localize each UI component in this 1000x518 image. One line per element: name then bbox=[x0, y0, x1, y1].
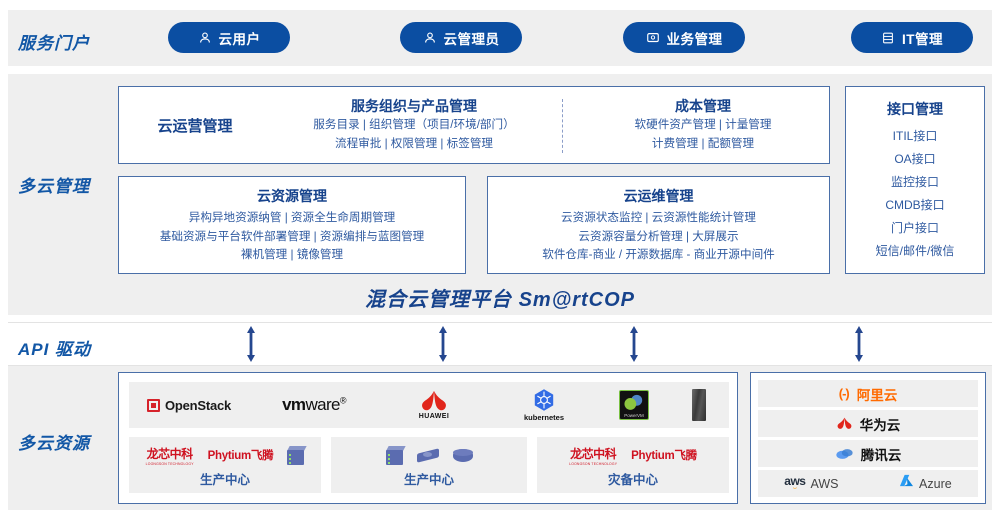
phytium-logo: Phytium飞腾 bbox=[208, 447, 274, 463]
cost-management-group: 成本管理 软硬件资产管理 | 计量管理 计费管理 | 配额管理 bbox=[589, 96, 817, 153]
cloud-ops-mgmt-line: 云资源状态监控 | 云资源性能统计管理 bbox=[488, 209, 829, 228]
database-icon bbox=[453, 449, 473, 462]
datacenter-tile-production-2: 生产中心 bbox=[331, 437, 527, 493]
cloud-operations-title: 云运营管理 bbox=[133, 87, 257, 163]
platform-title: 混合云管理平台 Sm@rtCOP bbox=[0, 283, 1000, 312]
portal-pill-label: IT管理 bbox=[902, 28, 943, 48]
public-cloud-row-huaweicloud[interactable]: 华为云 bbox=[758, 410, 978, 437]
phytium-logo: Phytium飞腾 bbox=[631, 447, 697, 463]
datacenter-label: 生产中心 bbox=[129, 469, 321, 488]
datacenter-tile-production-1: 龙芯中科 LOONGSON TECHNOLOGY Phytium飞腾 生产中心 bbox=[129, 437, 321, 493]
portal-pill-it-mgmt[interactable]: IT管理 bbox=[851, 22, 973, 53]
huaweicloud-logo bbox=[836, 417, 852, 430]
server-rack-icon bbox=[881, 31, 895, 45]
architecture-diagram: 服务门户 云用户 云管理员 业务管理 IT管理 多云管理 云运营管理 服务组织与… bbox=[0, 0, 1000, 518]
loongson-logo-en: LOONGSON TECHNOLOGY bbox=[569, 462, 617, 466]
huawei-logo: HUAWEI bbox=[379, 382, 489, 428]
dc2-icon-row bbox=[331, 442, 527, 468]
cloud-operations-box: 云运营管理 服务组织与产品管理 服务目录 | 组织管理（项目/环境/部门） 流程… bbox=[118, 86, 830, 164]
admin-user-icon bbox=[423, 31, 437, 45]
datacenter-tile-disaster-recovery: 龙芯中科 LOONGSON TECHNOLOGY Phytium飞腾 灾备中心 bbox=[537, 437, 729, 493]
multicloud-management-label: 多云管理 bbox=[18, 172, 90, 197]
service-org-product-title: 服务组织与产品管理 bbox=[269, 96, 559, 116]
cloud-resource-mgmt-line: 基础资源与平台软件部署管理 | 资源编排与蓝图管理 bbox=[119, 228, 465, 247]
business-window-icon bbox=[646, 31, 660, 45]
server-rack-logo bbox=[669, 382, 729, 428]
cloud-ops-mgmt-title: 云运维管理 bbox=[488, 186, 829, 206]
multicloud-resource-label: 多云资源 bbox=[18, 429, 90, 454]
bidirectional-arrow-icon bbox=[436, 324, 450, 364]
loongson-logo: 龙芯中科 LOONGSON TECHNOLOGY bbox=[569, 445, 617, 466]
bidirectional-arrow-icon bbox=[627, 324, 641, 364]
interface-item-monitor: 监控接口 bbox=[846, 171, 984, 194]
datacenter-label: 生产中心 bbox=[331, 469, 527, 488]
tencentcloud-label: 腾讯云 bbox=[861, 444, 902, 464]
portal-pill-label: 业务管理 bbox=[667, 28, 723, 48]
loongson-logo-en: LOONGSON TECHNOLOGY bbox=[146, 462, 194, 466]
powervm-logo: PowerVM bbox=[599, 382, 669, 428]
datacenter-label: 灾备中心 bbox=[537, 469, 729, 488]
bidirectional-arrow-icon bbox=[852, 324, 866, 364]
azure-logo bbox=[899, 474, 914, 493]
aws-cell[interactable]: aws⌣ AWS bbox=[784, 476, 838, 491]
openstack-logo-text: OpenStack bbox=[165, 398, 231, 413]
portal-pill-cloud-user[interactable]: 云用户 bbox=[168, 22, 290, 53]
portal-pill-business-mgmt[interactable]: 业务管理 bbox=[623, 22, 745, 53]
portal-pill-label: 云管理员 bbox=[444, 28, 500, 48]
interface-mgmt-title: 接口管理 bbox=[846, 99, 984, 119]
vmware-logo: vmware® bbox=[249, 382, 379, 428]
loongson-logo-cn: 龙芯中科 bbox=[570, 445, 616, 462]
service-portal-label: 服务门户 bbox=[18, 29, 90, 54]
cost-management-title: 成本管理 bbox=[589, 96, 817, 116]
public-cloud-box: (-) 阿里云 华为云 腾讯云 aw bbox=[750, 372, 986, 504]
kubernetes-logo: kubernetes bbox=[489, 382, 599, 428]
kubernetes-logo-text: kubernetes bbox=[524, 413, 564, 422]
huawei-logo-text: HUAWEI bbox=[419, 413, 449, 420]
interface-item-itil: ITIL接口 bbox=[846, 125, 984, 148]
interface-item-oa: OA接口 bbox=[846, 148, 984, 171]
public-cloud-row-aws-azure[interactable]: aws⌣ AWS Azure bbox=[758, 470, 978, 497]
interface-mgmt-box: 接口管理 ITIL接口 OA接口 监控接口 CMDB接口 门户接口 短信/邮件/… bbox=[845, 86, 985, 274]
service-org-product-line: 流程审批 | 权限管理 | 标签管理 bbox=[269, 135, 559, 154]
server-icon bbox=[287, 446, 304, 465]
service-org-product-line: 服务目录 | 组织管理（项目/环境/部门） bbox=[269, 116, 559, 135]
portal-pill-cloud-admin[interactable]: 云管理员 bbox=[400, 22, 522, 53]
cloud-resource-mgmt-line: 异构异地资源纳管 | 资源全生命周期管理 bbox=[119, 209, 465, 228]
interface-item-message: 短信/邮件/微信 bbox=[846, 240, 984, 263]
azure-label: Azure bbox=[919, 477, 952, 491]
cloud-ops-mgmt-box: 云运维管理 云资源状态监控 | 云资源性能统计管理 云资源容量分析管理 | 大屏… bbox=[487, 176, 830, 274]
loongson-logo-cn: 龙芯中科 bbox=[147, 445, 193, 462]
aws-label: AWS bbox=[810, 477, 838, 491]
cost-management-line: 软硬件资产管理 | 计量管理 bbox=[589, 116, 817, 135]
public-cloud-row-tencentcloud[interactable]: 腾讯云 bbox=[758, 440, 978, 467]
cloud-resource-mgmt-title: 云资源管理 bbox=[119, 186, 465, 206]
dc3-brand-row: 龙芯中科 LOONGSON TECHNOLOGY Phytium飞腾 bbox=[537, 442, 729, 468]
aws-logo: aws⌣ bbox=[784, 476, 805, 491]
cloud-resource-mgmt-line: 裸机管理 | 镜像管理 bbox=[119, 246, 465, 265]
api-driven-label: API 驱动 bbox=[18, 335, 91, 360]
cost-management-line: 计费管理 | 配额管理 bbox=[589, 135, 817, 154]
vendor-logo-strip: OpenStack vmware® HUAWEI bbox=[129, 382, 729, 428]
interface-item-cmdb: CMDB接口 bbox=[846, 194, 984, 217]
aliyun-label: 阿里云 bbox=[857, 384, 898, 404]
dc1-brand-row: 龙芯中科 LOONGSON TECHNOLOGY Phytium飞腾 bbox=[129, 442, 321, 468]
user-icon bbox=[198, 31, 212, 45]
public-cloud-row-aliyun[interactable]: (-) 阿里云 bbox=[758, 380, 978, 407]
cloud-ops-mgmt-line: 云资源容量分析管理 | 大屏展示 bbox=[488, 228, 829, 247]
server-icon bbox=[386, 446, 403, 465]
api-driven-band bbox=[8, 322, 992, 366]
interface-item-portal: 门户接口 bbox=[846, 217, 984, 240]
bidirectional-arrow-icon bbox=[244, 324, 258, 364]
tencentcloud-logo bbox=[835, 447, 853, 460]
private-cloud-box: OpenStack vmware® HUAWEI bbox=[118, 372, 738, 504]
cloud-ops-mgmt-line: 软件仓库-商业 / 开源数据库 - 商业开源中间件 bbox=[488, 246, 829, 265]
openstack-logo: OpenStack bbox=[129, 382, 249, 428]
powervm-logo-text: PowerVM bbox=[620, 413, 648, 418]
portal-pill-label: 云用户 bbox=[219, 28, 261, 48]
vertical-dashed-divider bbox=[562, 99, 563, 153]
switch-icon bbox=[417, 448, 439, 463]
service-org-product-group: 服务组织与产品管理 服务目录 | 组织管理（项目/环境/部门） 流程审批 | 权… bbox=[269, 96, 559, 153]
huaweicloud-label: 华为云 bbox=[860, 414, 901, 434]
aliyun-logo: (-) bbox=[839, 386, 849, 401]
cloud-resource-mgmt-box: 云资源管理 异构异地资源纳管 | 资源全生命周期管理 基础资源与平台软件部署管理… bbox=[118, 176, 466, 274]
loongson-logo: 龙芯中科 LOONGSON TECHNOLOGY bbox=[146, 445, 194, 466]
azure-cell[interactable]: Azure bbox=[899, 474, 952, 493]
